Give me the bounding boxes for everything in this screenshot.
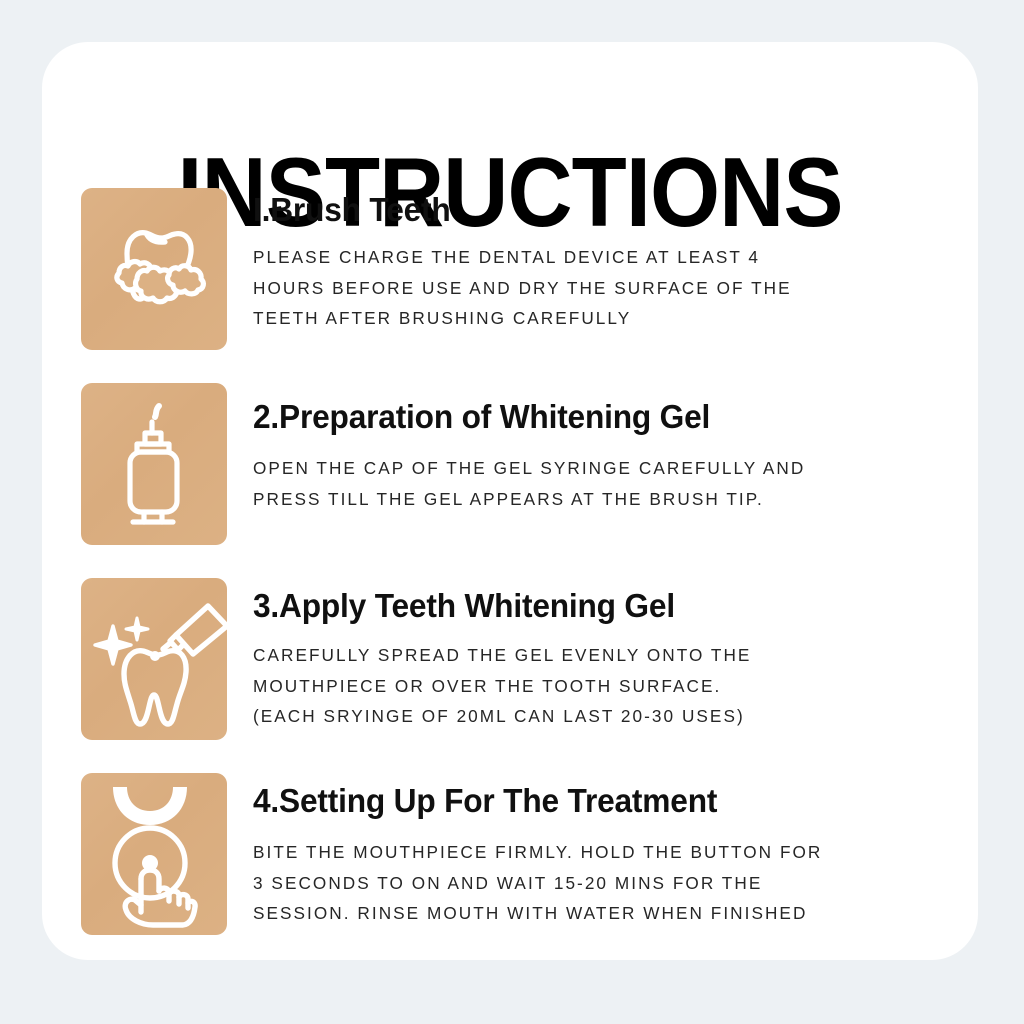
list-item: 2.Preparation of Whitening Gel OPEN THE … [81,383,981,545]
step-description-line: CAREFULLY SPREAD THE GEL EVENLY ONTO THE [253,640,981,671]
step-icon-tile [81,383,227,545]
gel-syringe-icon [115,400,193,528]
steps-list: I.Brush Teeth PLEASE CHARGE THE DENTAL D… [81,188,981,968]
step-description-line: SESSION. RINSE MOUTH WITH WATER WHEN FIN… [253,898,981,929]
step-description: PLEASE CHARGE THE DENTAL DEVICE AT LEAST… [253,242,981,334]
step-heading: 4.Setting Up For The Treatment [253,781,952,821]
tooth-with-gel-applicator-icon [81,578,227,740]
step-content: 3.Apply Teeth Whitening Gel CAREFULLY SP… [227,578,981,732]
step-description-line: (EACH SRYINGE OF 20ML CAN LAST 20-30 USE… [253,701,981,732]
step-description: CAREFULLY SPREAD THE GEL EVENLY ONTO THE… [253,640,981,732]
step-icon-tile [81,578,227,740]
tooth-with-foam-icon [99,223,209,315]
step-description-line: OPEN THE CAP OF THE GEL SYRINGE CAREFULL… [253,453,981,484]
step-icon-tile [81,188,227,350]
step-content: 4.Setting Up For The Treatment BITE THE … [227,773,981,929]
step-description: BITE THE MOUTHPIECE FIRMLY. HOLD THE BUT… [253,837,981,929]
step-description-line: HOURS BEFORE USE AND DRY THE SURFACE OF … [253,273,981,304]
step-content: I.Brush Teeth PLEASE CHARGE THE DENTAL D… [227,188,981,334]
instruction-poster: INSTRUCTIONS I.Brus [0,0,1024,1024]
step-description: OPEN THE CAP OF THE GEL SYRINGE CAREFULL… [253,453,981,514]
step-heading: 2.Preparation of Whitening Gel [253,397,952,437]
step-content: 2.Preparation of Whitening Gel OPEN THE … [227,383,981,514]
instruction-card: INSTRUCTIONS I.Brus [42,42,978,960]
step-description-line: PRESS TILL THE GEL APPEARS AT THE BRUSH … [253,484,981,515]
list-item: 3.Apply Teeth Whitening Gel CAREFULLY SP… [81,578,981,740]
step-heading: I.Brush Teeth [253,190,952,230]
step-heading: 3.Apply Teeth Whitening Gel [253,586,952,626]
step-description-line: BITE THE MOUTHPIECE FIRMLY. HOLD THE BUT… [253,837,981,868]
step-description-line: 3 SECONDS TO ON AND WAIT 15-20 MINS FOR … [253,868,981,899]
mouthpiece-button-press-icon [95,779,213,929]
list-item: I.Brush Teeth PLEASE CHARGE THE DENTAL D… [81,188,981,350]
list-item: 4.Setting Up For The Treatment BITE THE … [81,773,981,935]
step-description-line: PLEASE CHARGE THE DENTAL DEVICE AT LEAST… [253,242,981,273]
step-description-line: TEETH AFTER BRUSHING CAREFULLY [253,303,981,334]
step-icon-tile [81,773,227,935]
step-description-line: MOUTHPIECE OR OVER THE TOOTH SURFACE. [253,671,981,702]
